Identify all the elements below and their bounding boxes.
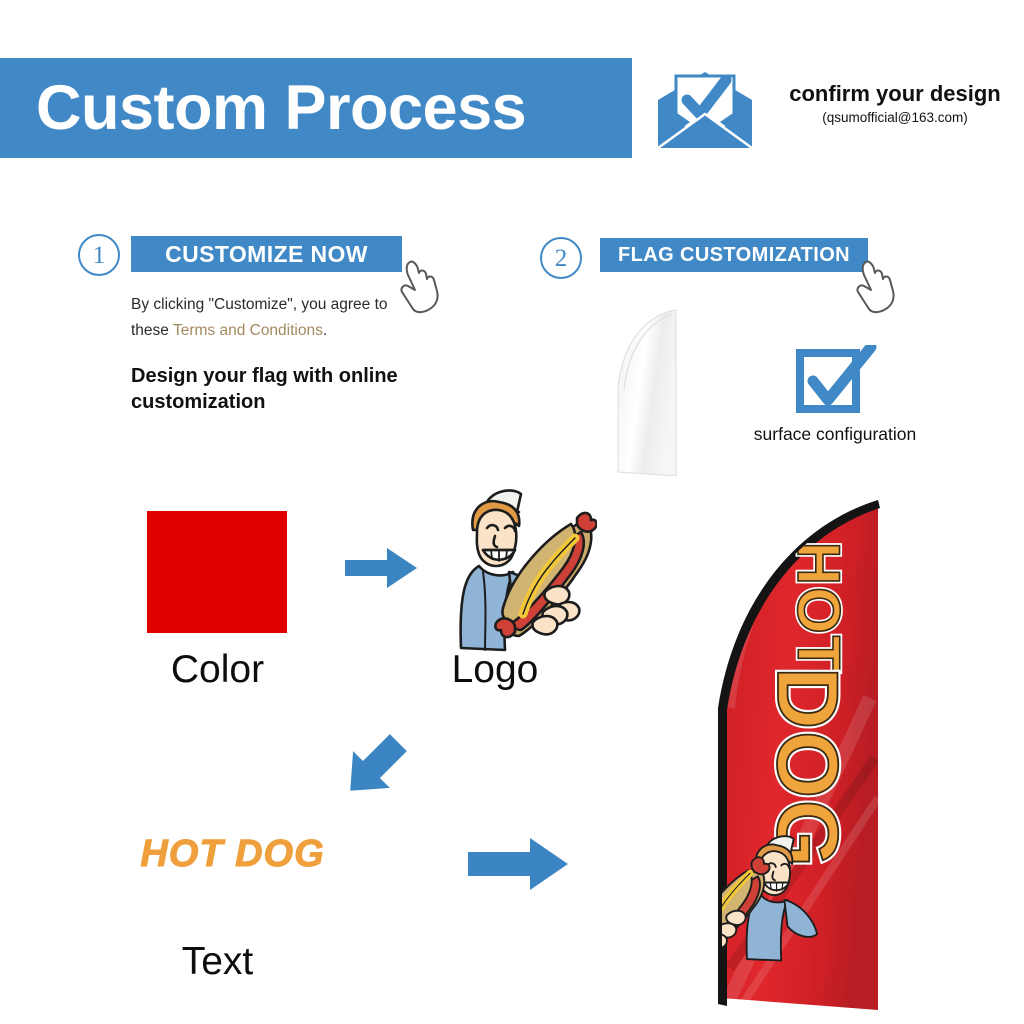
terms-suffix-text: . bbox=[323, 322, 327, 339]
confirm-design-title: confirm your design bbox=[770, 82, 1020, 106]
terms-and-conditions-link[interactable]: Terms and Conditions bbox=[173, 322, 323, 339]
hot-dog-feather-flag-icon: HOT HOT DOG DOG bbox=[700, 498, 905, 1010]
envelope-check-icon bbox=[650, 70, 760, 150]
terms-paragraph: By clicking "Customize", you agree to th… bbox=[131, 292, 406, 343]
flag-customization-button[interactable]: FLAG CUSTOMIZATION bbox=[600, 238, 868, 272]
color-label: Color bbox=[100, 648, 335, 692]
hotdog-vendor-cartoon-icon bbox=[447, 480, 597, 652]
surface-configuration-caption: surface configuration bbox=[700, 424, 970, 445]
confirm-design-email: (qsumofficial@163.com) bbox=[770, 110, 1020, 125]
hot-dog-text-sample: HOT DOG bbox=[100, 835, 365, 873]
header-banner: Custom Process bbox=[0, 58, 632, 158]
step-2-number-badge: 2 bbox=[540, 237, 582, 279]
page-title: Custom Process bbox=[36, 77, 526, 140]
blank-feather-flag-icon bbox=[612, 308, 688, 476]
confirm-design-block: confirm your design (qsumofficial@163.co… bbox=[650, 62, 1020, 157]
checked-box-icon bbox=[795, 345, 877, 417]
arrow-right-icon bbox=[468, 838, 568, 890]
color-swatch[interactable] bbox=[147, 511, 287, 633]
arrow-right-icon bbox=[345, 548, 417, 588]
customize-now-button[interactable]: CUSTOMIZE NOW bbox=[131, 236, 402, 272]
design-headline: Design your flag with online customizati… bbox=[131, 363, 421, 416]
logo-label: Logo bbox=[390, 648, 600, 692]
arrow-down-left-icon bbox=[330, 730, 420, 802]
svg-text:HOT: HOT bbox=[785, 542, 852, 675]
step-1-number-badge: 1 bbox=[78, 234, 120, 276]
text-label: Text bbox=[100, 940, 335, 984]
pointing-hand-cursor-icon bbox=[852, 258, 900, 314]
